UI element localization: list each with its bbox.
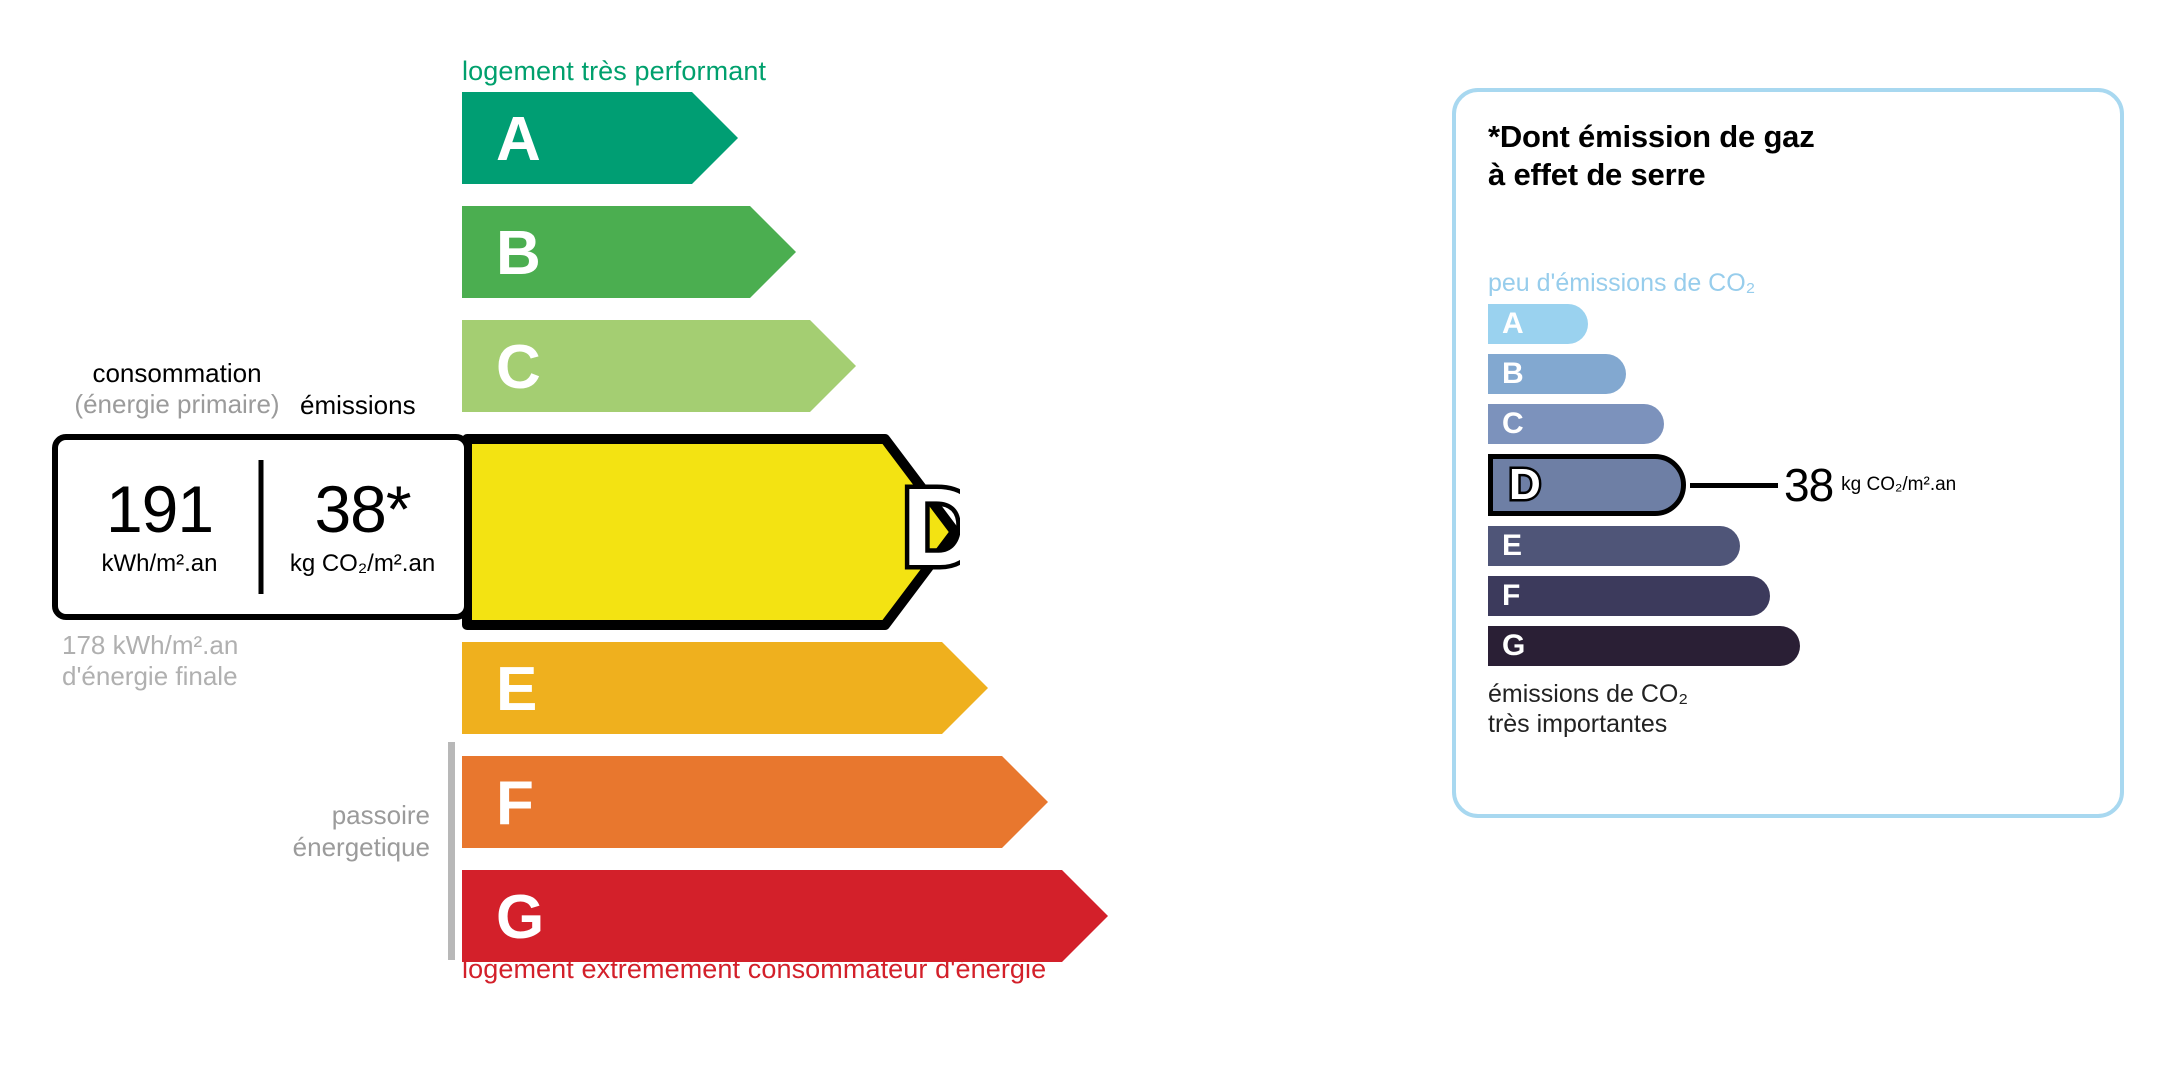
energy-class-row-e: E	[462, 642, 1262, 734]
co2-title-line1: *Dont émission de gaz	[1488, 119, 1815, 154]
co2-class-bars: ABCD38kg CO₂/m².anEFG	[1488, 304, 2088, 676]
co2-callout-line	[1690, 483, 1778, 488]
passoire-line2: énergetique	[293, 832, 430, 862]
co2-bottom-caption: émissions de CO₂ très importantes	[1488, 679, 1688, 739]
energy-class-letter: E	[496, 655, 537, 724]
co2-class-letter: D	[1509, 463, 1541, 507]
passoire-bracket	[448, 742, 455, 960]
co2-bar-e: E	[1488, 526, 1740, 566]
dpe-value-box: 191 kWh/m².an 38* kg CO₂/m².an	[52, 434, 470, 620]
consumption-value-cell: 191 kWh/m².an	[58, 440, 261, 614]
passoire-energetique-label: passoire énergetique	[170, 800, 430, 863]
emissions-label: émissions	[300, 390, 416, 421]
co2-bar-a: A	[1488, 304, 1588, 344]
energy-class-bars: ABCDEFG	[462, 92, 1262, 942]
energy-class-letter: C	[496, 333, 541, 402]
energy-arrow-a: A	[462, 92, 748, 194]
energy-class-row-g: G	[462, 870, 1262, 962]
final-energy-caption: d'énergie finale	[62, 661, 238, 691]
energy-arrow-e: E	[462, 642, 998, 744]
co2-class-row-f: F	[1488, 576, 2088, 616]
co2-bar-d: D	[1488, 454, 1686, 516]
co2-bar-g: G	[1488, 626, 1800, 666]
energy-arrow-f: F	[462, 756, 1058, 858]
co2-class-letter: E	[1502, 531, 1522, 561]
co2-bar-b: B	[1488, 354, 1626, 394]
consumption-value-unit: kWh/m².an	[101, 550, 217, 578]
co2-title-line2: à effet de serre	[1488, 157, 1705, 192]
energy-arrow-d: D	[462, 434, 960, 630]
co2-class-row-a: A	[1488, 304, 2088, 344]
emissions-value: 38*	[314, 476, 410, 542]
energy-arrow-c: C	[462, 320, 866, 422]
co2-class-letter: G	[1502, 631, 1525, 661]
co2-class-row-g: G	[1488, 626, 2088, 666]
consumption-label-main: consommation	[92, 358, 261, 388]
energy-class-letter: B	[496, 219, 541, 288]
final-energy-note: 178 kWh/m².an d'énergie finale	[62, 630, 238, 692]
co2-class-letter: F	[1502, 581, 1520, 611]
energy-class-row-c: C	[462, 320, 1262, 412]
energy-class-letter: F	[496, 769, 534, 838]
co2-top-caption: peu d'émissions de CO₂	[1488, 269, 1755, 298]
energy-class-row-b: B	[462, 206, 1262, 298]
emissions-value-unit: kg CO₂/m².an	[290, 550, 435, 578]
energy-class-row-d: D	[462, 434, 1262, 620]
energy-consumption-panel: logement très performant ABCDEFG consomm…	[0, 0, 1380, 1079]
co2-bar-c: C	[1488, 404, 1664, 444]
co2-panel-title: *Dont émission de gaz à effet de serre	[1488, 118, 1815, 194]
co2-class-row-e: E	[1488, 526, 2088, 566]
co2-class-letter: A	[1502, 309, 1524, 339]
energy-class-letter: A	[496, 105, 541, 174]
consumption-label: consommation (énergie primaire)	[52, 358, 302, 419]
passoire-line1: passoire	[332, 800, 430, 830]
co2-bottom-line1: émissions de CO₂	[1488, 680, 1688, 708]
co2-bar-f: F	[1488, 576, 1770, 616]
co2-class-row-d: D38kg CO₂/m².an	[1488, 454, 2088, 516]
co2-class-letter: B	[1502, 359, 1524, 389]
co2-class-row-b: B	[1488, 354, 2088, 394]
energy-class-row-a: A	[462, 92, 1262, 184]
energy-top-caption: logement très performant	[462, 56, 766, 87]
energy-class-letter: G	[496, 883, 544, 952]
energy-class-letter-current: D	[902, 466, 960, 589]
co2-class-letter: C	[1502, 409, 1524, 439]
co2-value-callout: 38kg CO₂/m².an	[1690, 454, 1956, 516]
energy-class-row-f: F	[462, 756, 1262, 848]
consumption-value: 191	[106, 476, 213, 542]
energy-bottom-caption: logement extrêmement consommateur d'éner…	[462, 954, 1046, 985]
co2-emissions-panel: *Dont émission de gaz à effet de serre p…	[1452, 88, 2124, 818]
co2-bottom-line2: très importantes	[1488, 710, 1667, 738]
emissions-value-cell: 38* kg CO₂/m².an	[261, 440, 464, 614]
co2-callout-unit: kg CO₂/m².an	[1841, 474, 1956, 496]
energy-arrow-b: B	[462, 206, 806, 308]
consumption-label-sub: (énergie primaire)	[74, 389, 279, 419]
co2-callout-value: 38	[1784, 462, 1833, 508]
final-energy-value: 178 kWh/m².an	[62, 630, 238, 660]
co2-class-row-c: C	[1488, 404, 2088, 444]
